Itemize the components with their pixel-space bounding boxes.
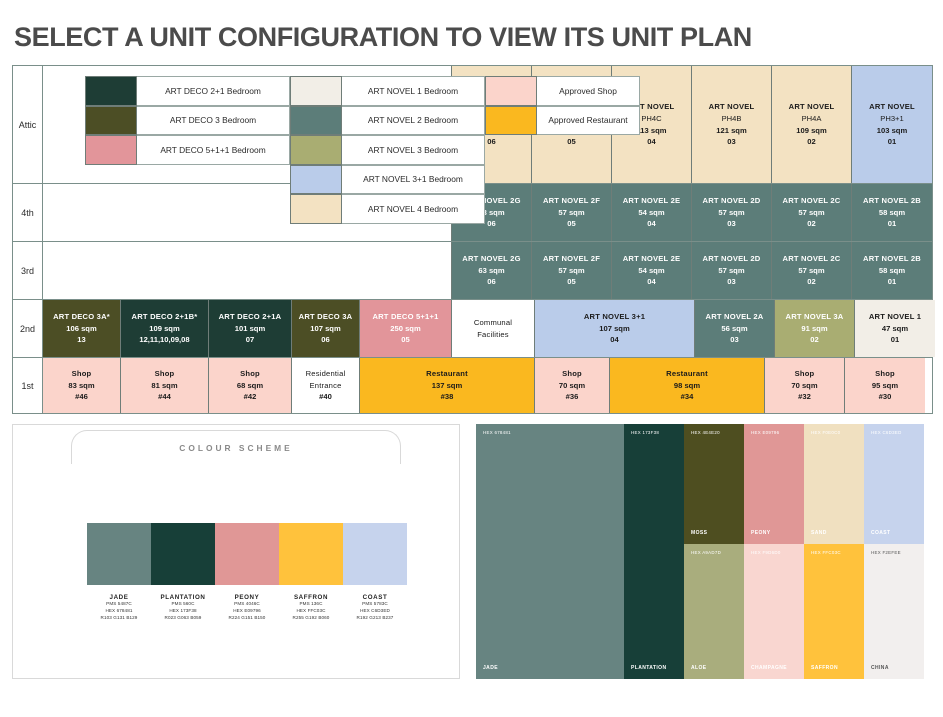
- unit-no: #36: [566, 391, 579, 403]
- card-notch-decoration: COLOUR SCHEME: [13, 425, 459, 463]
- unit-nm: ART NOVEL 2D: [703, 253, 761, 265]
- unit-cell[interactable]: ART NOVEL 2D57 sqm03: [692, 242, 772, 299]
- unit-nm: Restaurant: [426, 368, 468, 380]
- unit-nm: Shop: [155, 368, 175, 380]
- unit-nm: Restaurant: [666, 368, 708, 380]
- unit-sq: 83 sqm: [68, 380, 94, 392]
- palette-cell[interactable]: HEX 173F38: [624, 424, 684, 544]
- floor-label-1st: 1st: [13, 358, 43, 413]
- unit-cell[interactable]: ART NOVEL 2D57 sqm03: [692, 184, 772, 241]
- palette-name: COAST: [871, 530, 891, 536]
- unit-nm: ResidentialEntrance: [306, 368, 346, 392]
- unit-no: #40: [319, 391, 332, 403]
- legend-item[interactable]: ART NOVEL 2 Bedroom: [290, 106, 485, 136]
- unit-no: 04: [610, 334, 618, 346]
- legend-label: ART NOVEL 2 Bedroom: [342, 106, 485, 136]
- unit-cell[interactable]: Shop81 sqm#44: [121, 358, 209, 413]
- unit-no: #38: [441, 391, 454, 403]
- swatch-pms: PMS 136C: [279, 601, 343, 608]
- swatch-name: PLANTATION: [151, 594, 215, 601]
- colour-scheme-card: COLOUR SCHEME JADEPMS 5487CHEX 678481R10…: [12, 424, 460, 679]
- unit-cd: PH4B: [722, 113, 742, 125]
- unit-no: 03: [727, 276, 735, 288]
- palette-hex: HEX F0E0C0: [811, 430, 840, 435]
- unit-nm: ART DECO 3A*: [53, 311, 110, 323]
- unit-cell[interactable]: Shop68 sqm#42: [209, 358, 292, 413]
- unit-no: 06: [487, 276, 495, 288]
- unit-nm: Shop: [795, 368, 815, 380]
- swatch-hex: HEX 173F38: [151, 608, 215, 615]
- matrix-row-3rd: 3rdART NOVEL 2G63 sqm06ART NOVEL 2F57 sq…: [13, 242, 932, 300]
- legend-item[interactable]: ART DECO 2+1 Bedroom: [85, 76, 290, 106]
- unit-sq: 121 sqm: [716, 125, 746, 137]
- bottom-section: COLOUR SCHEME JADEPMS 5487CHEX 678481R10…: [0, 424, 943, 679]
- unit-sq: 58 sqm: [879, 265, 905, 277]
- legend-item[interactable]: ART NOVEL 3 Bedroom: [290, 135, 485, 165]
- unit-nm: ART NOVEL 2B: [863, 195, 921, 207]
- palette-hex: HEX 4E4E20: [691, 430, 720, 435]
- floor-label-2nd: 2nd: [13, 300, 43, 357]
- swatch-name: COAST: [343, 594, 407, 601]
- colour-swatch-peony[interactable]: PEONYPMS 4046CHEX E09796R224 G151 B150: [215, 523, 279, 622]
- swatch-colour-box: [215, 523, 279, 585]
- palette-cell[interactable]: HEX F9D6D0CHAMPAGNE: [744, 544, 804, 679]
- palette-hex: HEX A9AD7D: [691, 550, 721, 555]
- swatch-rgb: R224 G151 B150: [215, 615, 279, 622]
- unit-no: 01: [888, 218, 896, 230]
- unit-nm: Shop: [875, 368, 895, 380]
- palette-name: PEONY: [751, 530, 771, 536]
- legend-item[interactable]: ART NOVEL 3+1 Bedroom: [290, 165, 485, 195]
- unit-no: 02: [807, 276, 815, 288]
- unit-cell[interactable]: ART NOVELPH3+1103 sqm01: [852, 66, 932, 183]
- unit-nm: Shop: [562, 368, 582, 380]
- legend-swatch: [290, 194, 342, 224]
- unit-nm: ART NOVEL 2B: [863, 253, 921, 265]
- unit-sq: 63 sqm: [478, 265, 504, 277]
- legend-item[interactable]: ART DECO 3 Bedroom: [85, 106, 290, 136]
- legend-label: ART DECO 3 Bedroom: [137, 106, 290, 136]
- unit-sq: 70 sqm: [791, 380, 817, 392]
- unit-sq: 47 sqm: [882, 323, 908, 335]
- unit-cell[interactable]: ART DECO 5+1+1250 sqm05: [360, 300, 452, 357]
- swatch-rgb: R023 G063 B059: [151, 615, 215, 622]
- unit-cell[interactable]: ResidentialEntrance#40: [292, 358, 360, 413]
- unit-nm: ART DECO 3A: [299, 311, 353, 323]
- unit-sq: 57 sqm: [798, 265, 824, 277]
- legend-label: Approved Shop: [537, 76, 640, 106]
- palette-cell[interactable]: HEX 678481: [476, 424, 624, 544]
- colour-swatch-coast[interactable]: COASTPMS 5783CHEX C6D3EDR192 G213 B237: [343, 523, 407, 622]
- unit-nm: ART NOVEL 2C: [783, 195, 841, 207]
- colour-scheme-heading: COLOUR SCHEME: [179, 443, 292, 453]
- swatch-hex: HEX FFC03C: [279, 608, 343, 615]
- unit-nm: ART DECO 5+1+1: [372, 311, 438, 323]
- unit-cd: PH4C: [641, 113, 661, 125]
- legend-label: ART DECO 2+1 Bedroom: [137, 76, 290, 106]
- unit-cell[interactable]: ART NOVEL 3A91 sqm02: [775, 300, 855, 357]
- swatch-pms: PMS 5487C: [87, 601, 151, 608]
- page-title: SELECT A UNIT CONFIGURATION TO VIEW ITS …: [0, 0, 943, 65]
- unit-cell[interactable]: ART NOVELPH4B121 sqm03: [692, 66, 772, 183]
- unit-sq: 113 sqm: [637, 125, 667, 137]
- palette-cell[interactable]: JADE: [476, 544, 624, 679]
- palette-name: JADE: [483, 665, 498, 671]
- palette-cell[interactable]: HEX C6D3EDCOAST: [864, 424, 924, 544]
- palette-cell[interactable]: HEX A9AD7DALOE: [684, 544, 744, 679]
- unit-nm: Shop: [240, 368, 260, 380]
- unit-no: 05: [567, 276, 575, 288]
- unit-cell[interactable]: ART NOVEL 3+1107 sqm04: [535, 300, 695, 357]
- unit-cell[interactable]: ART DECO 3A107 sqm06: [292, 300, 360, 357]
- matrix-row-2nd: 2ndART DECO 3A*106 sqm13ART DECO 2+1B*10…: [13, 300, 932, 358]
- legend-swatch: [85, 76, 137, 106]
- unit-cell[interactable]: ART NOVEL 2G63 sqm06: [452, 242, 532, 299]
- unit-sq: 101 sqm: [235, 323, 265, 335]
- unit-nm: ART NOVEL 2A: [706, 311, 764, 323]
- legend-item[interactable]: Approved Shop: [485, 76, 640, 106]
- legend-swatch: [290, 135, 342, 165]
- palette-hex: HEX E09796: [751, 430, 779, 435]
- palette-cell[interactable]: HEX FFC03CSAFFRON: [804, 544, 864, 679]
- legend-swatch: [290, 106, 342, 136]
- palette-hex: HEX C6D3ED: [871, 430, 902, 435]
- swatch-rgb: R192 G213 B237: [343, 615, 407, 622]
- unit-nm: ART DECO 2+1B*: [132, 311, 198, 323]
- unit-sq: 98 sqm: [674, 380, 700, 392]
- colour-swatch-saffron[interactable]: SAFFRONPMS 136CHEX FFC03CR255 G192 B060: [279, 523, 343, 622]
- colour-swatch-row: JADEPMS 5487CHEX 678481R103 G131 B129PLA…: [87, 523, 407, 622]
- unit-no: 04: [647, 276, 655, 288]
- unit-nm: ART NOVEL 2F: [543, 253, 600, 265]
- unit-no: 01: [888, 276, 896, 288]
- unit-nm: ART NOVEL: [709, 101, 755, 113]
- unit-sq: 56 sqm: [721, 323, 747, 335]
- unit-sq: 106 sqm: [66, 323, 96, 335]
- unit-nm: CommunalFacilities: [474, 317, 512, 341]
- unit-no: #30: [879, 391, 892, 403]
- unit-sq: 109 sqm: [149, 323, 179, 335]
- swatch-rgb: R103 G131 B129: [87, 615, 151, 622]
- unit-cell[interactable]: ART NOVEL 2F57 sqm05: [532, 242, 612, 299]
- unit-no: 13: [77, 334, 85, 346]
- unit-cell[interactable]: ART NOVELPH4A109 sqm02: [772, 66, 852, 183]
- unit-sq: 70 sqm: [559, 380, 585, 392]
- unit-no: 04: [647, 136, 655, 148]
- palette-cell[interactable]: HEX 4E4E20MOSS: [684, 424, 744, 544]
- unit-cell[interactable]: ART DECO 2+1A101 sqm07: [209, 300, 292, 357]
- unit-nm: ART NOVEL 2G: [462, 253, 520, 265]
- swatch-colour-box: [151, 523, 215, 585]
- legend-item[interactable]: ART NOVEL 1 Bedroom: [290, 76, 485, 106]
- legend-label: ART NOVEL 3 Bedroom: [342, 135, 485, 165]
- legend-item[interactable]: Approved Restaurant: [485, 106, 640, 136]
- palette-name: PLANTATION: [631, 665, 666, 671]
- unit-no: #32: [798, 391, 811, 403]
- unit-nm: ART NOVEL: [869, 101, 915, 113]
- unit-nm: ART NOVEL 2C: [783, 253, 841, 265]
- unit-sq: 57 sqm: [718, 265, 744, 277]
- palette-cell[interactable]: HEX F2EFEECHINA: [864, 544, 924, 679]
- palette-name: ALOE: [691, 665, 707, 671]
- unit-no: 04: [647, 218, 655, 230]
- palette-panel: HEX 678481HEX 173F38HEX 4E4E20MOSSHEX E0…: [476, 424, 924, 679]
- colour-swatch-plantation[interactable]: PLANTATIONPMS 560CHEX 173F38R023 G063 B0…: [151, 523, 215, 622]
- unit-sq: 91 sqm: [801, 323, 827, 335]
- matrix-row-1st: 1stShop83 sqm#46Shop81 sqm#44Shop68 sqm#…: [13, 358, 932, 413]
- empty-cell: [43, 242, 452, 299]
- unit-cell[interactable]: Shop70 sqm#32: [765, 358, 845, 413]
- unit-nm: ART NOVEL 2E: [623, 253, 681, 265]
- unit-cell[interactable]: ART DECO 2+1B*109 sqm12,11,10,09,08: [121, 300, 209, 357]
- unit-no: 02: [807, 136, 815, 148]
- palette-name: SAFFRON: [811, 665, 838, 671]
- legend-swatch: [485, 76, 537, 106]
- unit-no: 05: [401, 334, 409, 346]
- unit-sq: 68 sqm: [237, 380, 263, 392]
- unit-sq: 54 sqm: [638, 265, 664, 277]
- swatch-pms: PMS 560C: [151, 601, 215, 608]
- unit-configuration-matrix: AtticART DECO 2+1 BedroomART DECO 3 Bedr…: [12, 65, 933, 414]
- palette-cell[interactable]: HEX F0E0C0SAND: [804, 424, 864, 544]
- legend-swatch: [290, 76, 342, 106]
- unit-sq: 250 sqm: [390, 323, 420, 335]
- palette-cell[interactable]: HEX E09796PEONY: [744, 424, 804, 544]
- swatch-hex: HEX E09796: [215, 608, 279, 615]
- unit-nm: Shop: [72, 368, 92, 380]
- unit-cell[interactable]: ART NOVEL 2C57 sqm02: [772, 184, 852, 241]
- unit-no: 02: [807, 218, 815, 230]
- legend-item[interactable]: ART NOVEL 4 Bedroom: [290, 194, 485, 224]
- swatch-pms: PMS 4046C: [215, 601, 279, 608]
- unit-cell[interactable]: ART DECO 3A*106 sqm13: [43, 300, 121, 357]
- legend-swatch: [85, 106, 137, 136]
- unit-cell[interactable]: Shop70 sqm#36: [535, 358, 610, 413]
- unit-no: 03: [727, 136, 735, 148]
- unit-sq: 109 sqm: [796, 125, 826, 137]
- palette-name: CHAMPAGNE: [751, 665, 787, 671]
- legend-area: ART DECO 2+1 BedroomART DECO 3 BedroomAR…: [43, 66, 452, 183]
- unit-sq: 95 sqm: [872, 380, 898, 392]
- floor-label-4th: 4th: [13, 184, 43, 241]
- unit-sq: 107 sqm: [599, 323, 629, 335]
- swatch-name: JADE: [87, 594, 151, 601]
- unit-cell[interactable]: Shop95 sqm#30: [845, 358, 925, 413]
- palette-band-top: HEX 678481HEX 173F38HEX 4E4E20MOSSHEX E0…: [476, 424, 924, 544]
- unit-sq: 137 sqm: [432, 380, 462, 392]
- swatch-colour-box: [87, 523, 151, 585]
- unit-nm: ART NOVEL 3A: [786, 311, 844, 323]
- legend-label: ART NOVEL 3+1 Bedroom: [342, 165, 485, 195]
- unit-no: 03: [730, 334, 738, 346]
- swatch-name: SAFFRON: [279, 594, 343, 601]
- swatch-name: PEONY: [215, 594, 279, 601]
- legend-label: ART DECO 5+1+1 Bedroom: [137, 135, 290, 165]
- unit-sq: 54 sqm: [638, 207, 664, 219]
- floor-label-3rd: 3rd: [13, 242, 43, 299]
- unit-sq: 58 sqm: [879, 207, 905, 219]
- unit-cell[interactable]: ART NOVEL 2B58 sqm01: [852, 242, 932, 299]
- swatch-hex: HEX 678481: [87, 608, 151, 615]
- unit-sq: 57 sqm: [718, 207, 744, 219]
- swatch-colour-box: [343, 523, 407, 585]
- legend-swatch: [485, 106, 537, 136]
- swatch-colour-box: [279, 523, 343, 585]
- unit-no: 06: [321, 334, 329, 346]
- unit-no: 03: [727, 218, 735, 230]
- legend-label: ART NOVEL 4 Bedroom: [342, 194, 485, 224]
- unit-no: #44: [158, 391, 171, 403]
- unit-no: 12,11,10,09,08: [139, 334, 189, 346]
- unit-cell[interactable]: ART NOVEL 2B58 sqm01: [852, 184, 932, 241]
- legend-label: Approved Restaurant: [537, 106, 640, 136]
- unit-cd: PH3+1: [880, 113, 903, 125]
- unit-cell[interactable]: Restaurant98 sqm#34: [610, 358, 765, 413]
- unit-sq: 81 sqm: [151, 380, 177, 392]
- palette-name: MOSS: [691, 530, 707, 536]
- unit-nm: ART DECO 2+1A: [219, 311, 282, 323]
- swatch-hex: HEX C6D3ED: [343, 608, 407, 615]
- floor-label-attic: Attic: [13, 66, 43, 183]
- unit-no: 01: [888, 136, 896, 148]
- unit-cell[interactable]: Shop83 sqm#46: [43, 358, 121, 413]
- swatch-rgb: R255 G192 B060: [279, 615, 343, 622]
- unit-no: #34: [681, 391, 694, 403]
- unit-cd: PH4A: [802, 113, 822, 125]
- legend-swatch: [85, 135, 137, 165]
- palette-name: SAND: [811, 530, 827, 536]
- unit-nm: ART NOVEL: [789, 101, 835, 113]
- matrix-row-attic: AtticART DECO 2+1 BedroomART DECO 3 Bedr…: [13, 66, 932, 184]
- unit-cell[interactable]: CommunalFacilities: [452, 300, 535, 357]
- unit-sq: 57 sqm: [798, 207, 824, 219]
- unit-nm: ART NOVEL 3+1: [584, 311, 645, 323]
- unit-cell[interactable]: Restaurant137 sqm#38: [360, 358, 535, 413]
- palette-hex: HEX F2EFEE: [871, 550, 901, 555]
- unit-no: #42: [244, 391, 257, 403]
- palette-hex: HEX 678481: [483, 430, 511, 435]
- unit-no: #46: [75, 391, 88, 403]
- unit-cell[interactable]: ART NOVEL 2A56 sqm03: [695, 300, 775, 357]
- unit-sq: 103 sqm: [877, 125, 907, 137]
- unit-nm: ART NOVEL 1: [869, 311, 921, 323]
- unit-nm: ART NOVEL 2D: [703, 195, 761, 207]
- unit-sq: 57 sqm: [558, 265, 584, 277]
- legend-swatch: [290, 165, 342, 195]
- unit-cell[interactable]: ART NOVEL 2E54 sqm04: [612, 242, 692, 299]
- palette-name: CHINA: [871, 665, 889, 671]
- unit-cell[interactable]: ART NOVEL 147 sqm01: [855, 300, 935, 357]
- colour-swatch-jade[interactable]: JADEPMS 5487CHEX 678481R103 G131 B129: [87, 523, 151, 622]
- unit-no: 07: [246, 334, 254, 346]
- unit-sq: 107 sqm: [310, 323, 340, 335]
- legend-label: ART NOVEL 1 Bedroom: [342, 76, 485, 106]
- unit-no: 02: [810, 334, 818, 346]
- unit-no: 01: [891, 334, 899, 346]
- swatch-pms: PMS 5783C: [343, 601, 407, 608]
- legend-item[interactable]: ART DECO 5+1+1 Bedroom: [85, 135, 290, 165]
- palette-hex: HEX F9D6D0: [751, 550, 781, 555]
- palette-hex: HEX 173F38: [631, 430, 659, 435]
- unit-cell[interactable]: ART NOVEL 2C57 sqm02: [772, 242, 852, 299]
- palette-band-bottom: JADEPLANTATIONHEX A9AD7DALOEHEX F9D6D0CH…: [476, 544, 924, 679]
- palette-hex: HEX FFC03C: [811, 550, 841, 555]
- palette-cell[interactable]: PLANTATION: [624, 544, 684, 679]
